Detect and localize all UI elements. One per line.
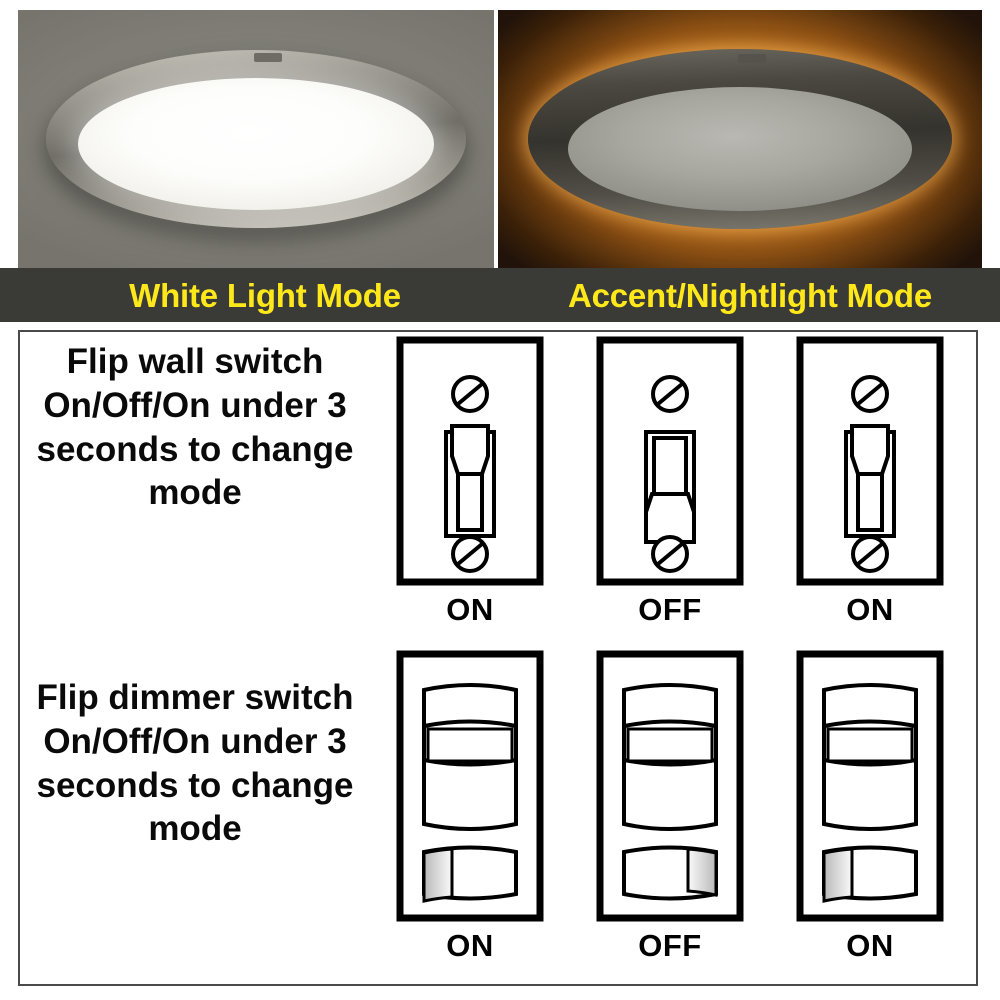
fixture-lens-dim	[568, 87, 912, 211]
figure-state-label: OFF	[638, 928, 702, 964]
dimmer-switch-figure-1: ON	[396, 650, 544, 964]
dimmer-switch-on-icon	[796, 650, 944, 922]
instruction-text-dimmer-switch: Flip dimmer switch On/Off/On under 3 sec…	[20, 650, 370, 851]
white-light-photo	[18, 10, 494, 268]
dimmer-switch-figure-2: OFF	[596, 650, 744, 964]
fixture-label-tab	[254, 53, 282, 62]
row-dimmer-switch: Flip dimmer switch On/Off/On under 3 sec…	[20, 650, 976, 980]
dimmer-switch-on-icon	[396, 650, 544, 922]
fixture-lens-lit	[78, 78, 434, 210]
toggle-switch-on-icon	[796, 336, 944, 586]
figure-state-label: ON	[846, 928, 894, 964]
fixture-label-tab	[738, 54, 766, 63]
row-wall-switch: Flip wall switch On/Off/On under 3 secon…	[20, 336, 976, 646]
caption-white-light-mode: White Light Mode	[0, 279, 500, 312]
instruction-text-wall-switch: Flip wall switch On/Off/On under 3 secon…	[20, 336, 370, 515]
caption-accent-nightlight-mode: Accent/Nightlight Mode	[500, 279, 1000, 312]
figure-state-label: OFF	[638, 592, 702, 628]
mode-caption-bar: White Light Mode Accent/Nightlight Mode	[0, 268, 1000, 322]
wall-switch-figure-2: OFF	[596, 336, 744, 628]
dimmer-switch-off-icon	[596, 650, 744, 922]
dimmer-switch-figures: ON	[370, 650, 976, 964]
accent-nightlight-photo	[498, 10, 982, 268]
toggle-switch-off-icon	[596, 336, 744, 586]
figure-state-label: ON	[846, 592, 894, 628]
wall-switch-figures: ON OFF	[370, 336, 976, 628]
figure-state-label: ON	[446, 592, 494, 628]
photo-band	[18, 10, 982, 268]
dimmer-switch-figure-3: ON	[796, 650, 944, 964]
wall-switch-figure-1: ON	[396, 336, 544, 628]
toggle-switch-on-icon	[396, 336, 544, 586]
wall-switch-figure-3: ON	[796, 336, 944, 628]
instruction-sheet: White Light Mode Accent/Nightlight Mode …	[0, 0, 1000, 1000]
figure-state-label: ON	[446, 928, 494, 964]
instruction-panel: Flip wall switch On/Off/On under 3 secon…	[18, 330, 978, 986]
